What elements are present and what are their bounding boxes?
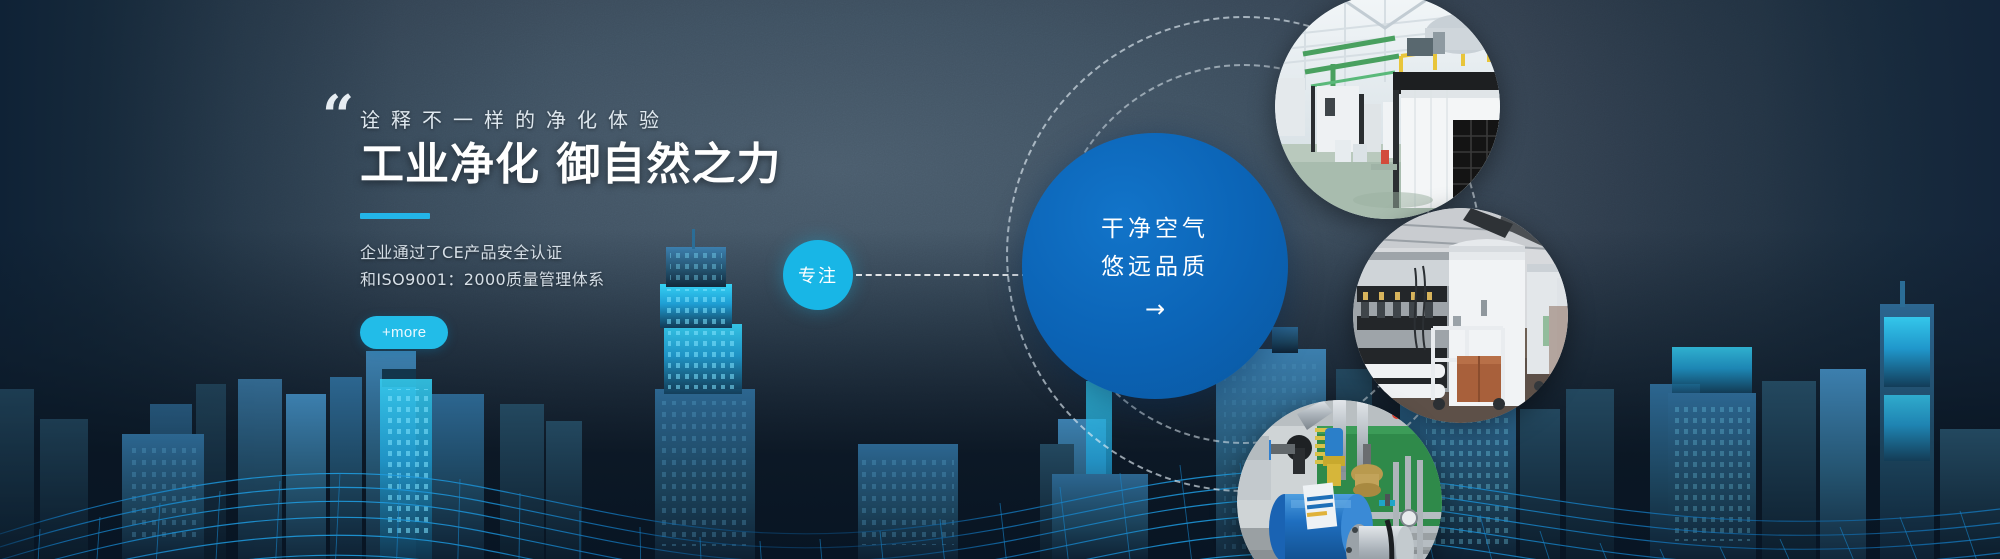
hero-tagline: 诠释不一样的净化体验 — [360, 104, 1000, 133]
background-vignette-bottom — [0, 229, 2000, 559]
focus-badge[interactable]: 专注 — [783, 240, 853, 310]
hero-copy-block: “ 诠释不一样的净化体验 工业净化 御自然之力 企业通过了CE产品安全认证 和I… — [360, 104, 1000, 349]
hub-circle[interactable]: 干净空气 悠远品质 → — [1022, 133, 1288, 399]
photo-industrial-plant[interactable] — [1275, 0, 1500, 219]
arrow-right-icon: → — [1145, 297, 1165, 321]
photo-textile-machinery[interactable] — [1353, 208, 1568, 423]
hero-headline: 工业净化 御自然之力 — [360, 139, 1000, 191]
hub-line-1: 干净空气 — [1101, 211, 1209, 249]
accent-divider — [360, 213, 430, 219]
more-button[interactable]: +more — [360, 316, 448, 349]
hub-line-2: 悠远品质 — [1101, 249, 1209, 287]
dashed-connector-line — [856, 274, 1028, 276]
focus-badge-label: 专注 — [798, 262, 838, 288]
hero-subline-1: 企业通过了CE产品安全认证 — [360, 239, 1000, 267]
hero-banner: “ 诠释不一样的净化体验 工业净化 御自然之力 企业通过了CE产品安全认证 和I… — [0, 0, 2000, 559]
quote-mark-icon: “ — [322, 88, 352, 144]
hero-subline-2: 和ISO9001：2000质量管理体系 — [360, 266, 1000, 294]
